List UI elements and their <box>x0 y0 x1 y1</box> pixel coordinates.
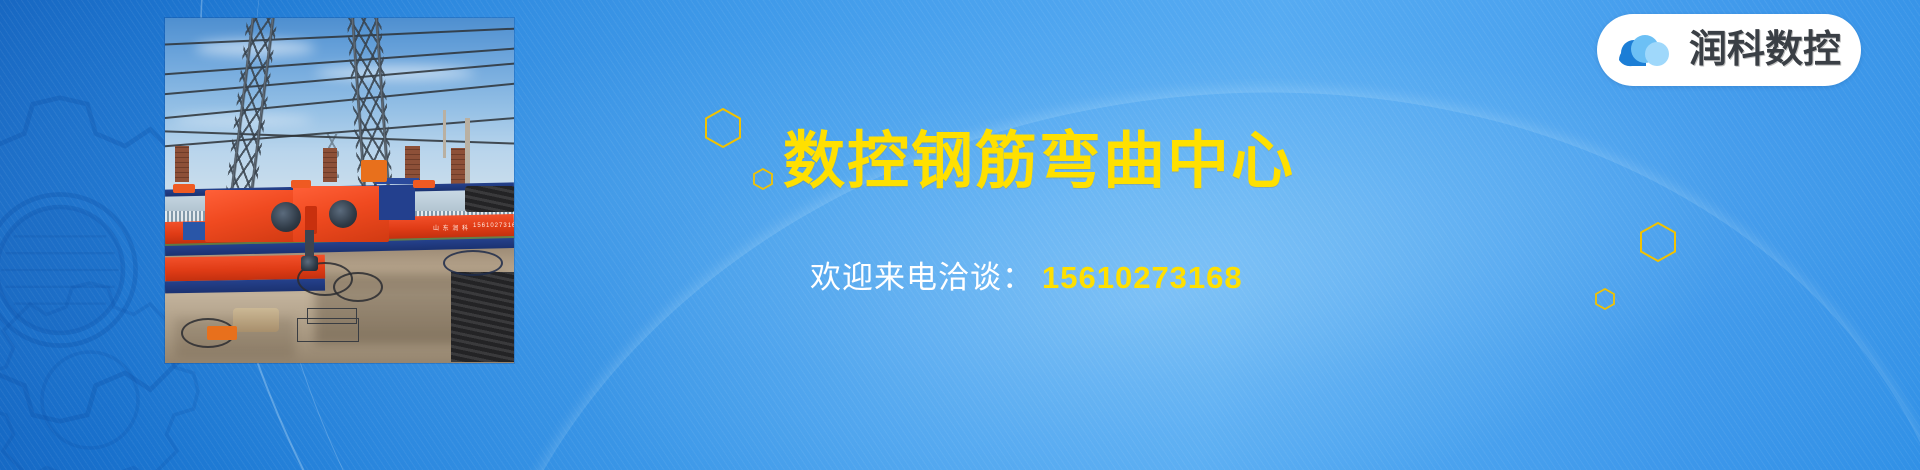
promo-banner: 山 东 润 科 15610273168 数控钢筋弯曲中心 欢迎来电洽谈：1561… <box>0 0 1920 470</box>
contact-label: 欢迎来电洽谈： <box>810 260 1034 295</box>
photo-machine-decal-phone: 15610273168 <box>473 223 514 229</box>
photo-bent-rebar-sample <box>307 308 357 324</box>
brand-logo[interactable]: 润科数控 <box>1597 14 1861 86</box>
photo-orange-bracket <box>291 180 311 188</box>
contact-phone-number[interactable]: 15610273168 <box>1042 260 1243 295</box>
photo-timber-block <box>233 308 279 332</box>
photo-orange-tool <box>207 326 237 340</box>
photo-brick-pier <box>323 148 337 182</box>
photo-machine-decal-company: 山 东 润 科 <box>433 223 469 232</box>
brand-name: 润科数控 <box>1689 31 1841 69</box>
photo-hose-coil <box>443 250 503 276</box>
photo-rebar-stack <box>465 186 514 212</box>
photo-rebar-stack <box>451 272 514 362</box>
photo-utility-pole <box>443 110 446 158</box>
photo-brick-pier <box>175 146 189 182</box>
photo-control-cabinet <box>379 186 415 220</box>
photo-utility-pole <box>465 118 470 192</box>
page-title: 数控钢筋弯曲中心 <box>783 131 1295 193</box>
photo-orange-bracket <box>413 180 435 188</box>
contact-line: 欢迎来电洽谈：15610273168 <box>810 262 1243 293</box>
photo-bending-disc <box>329 200 357 228</box>
photo-brick-pier <box>451 148 465 184</box>
photo-hose-coil <box>333 272 383 302</box>
product-photo-scene: 山 东 润 科 15610273168 <box>165 18 514 363</box>
photo-orange-bracket <box>173 184 195 193</box>
photo-orange-cabinet <box>361 160 387 182</box>
photo-cylinder-cap <box>301 256 318 271</box>
photo-blue-fixture <box>183 222 205 240</box>
photo-bending-disc <box>271 202 301 232</box>
overlapping-clouds-icon <box>1611 26 1675 74</box>
product-photo: 山 东 润 科 15610273168 <box>165 18 514 363</box>
